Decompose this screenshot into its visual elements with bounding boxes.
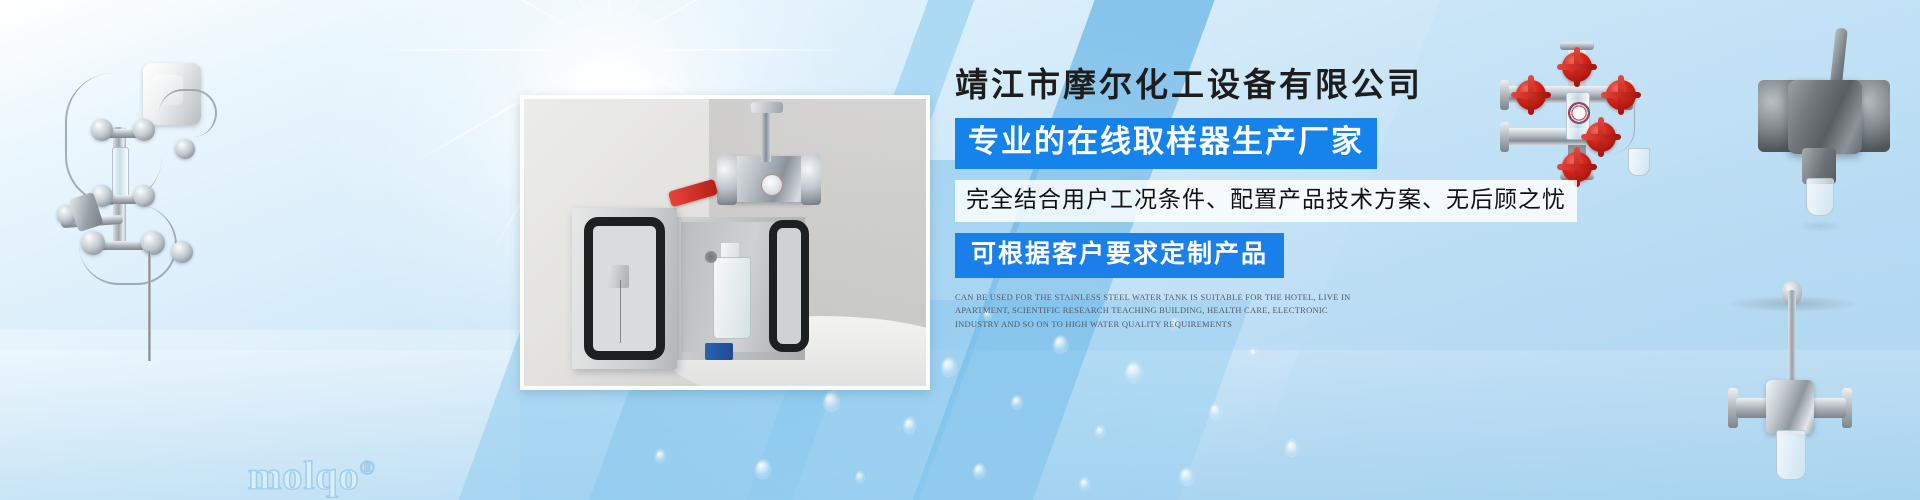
headline-badge: 专业的在线取样器生产厂家	[955, 118, 1377, 169]
promo-banner: 靖江市摩尔化工设备有限公司 专业的在线取样器生产厂家 完全结合用户工况条件、配置…	[0, 0, 1920, 500]
right-mid-product-image	[1740, 28, 1915, 248]
left-product-image	[55, 55, 255, 365]
sun-ray-icon	[609, 0, 818, 51]
registered-trademark-icon: ®	[360, 458, 376, 480]
right-bottom-product-image	[1700, 280, 1910, 490]
brand-watermark: molqo®	[248, 452, 376, 499]
sun-ray-icon	[609, 49, 849, 51]
company-name: 靖江市摩尔化工设备有限公司	[955, 68, 1475, 104]
tagline-badge: 可根据客户要求定制产品	[955, 233, 1284, 278]
sun-ray-icon	[401, 0, 610, 51]
subline-badge: 完全结合用户工况条件、配置产品技术方案、无后顾之忧	[955, 180, 1577, 222]
right-top-product-image	[1490, 40, 1670, 185]
sun-ray-icon	[608, 0, 730, 51]
english-description: CAN BE USED FOR THE STAINLESS STEEL WATE…	[955, 291, 1355, 332]
sun-ray-icon	[608, 0, 610, 50]
sun-ray-icon	[369, 49, 609, 51]
sun-ray-icon	[488, 0, 610, 51]
banner-text-block: 靖江市摩尔化工设备有限公司 专业的在线取样器生产厂家 完全结合用户工况条件、配置…	[955, 68, 1475, 332]
center-product-photo	[520, 95, 930, 390]
watermark-text: molqo	[248, 453, 360, 498]
